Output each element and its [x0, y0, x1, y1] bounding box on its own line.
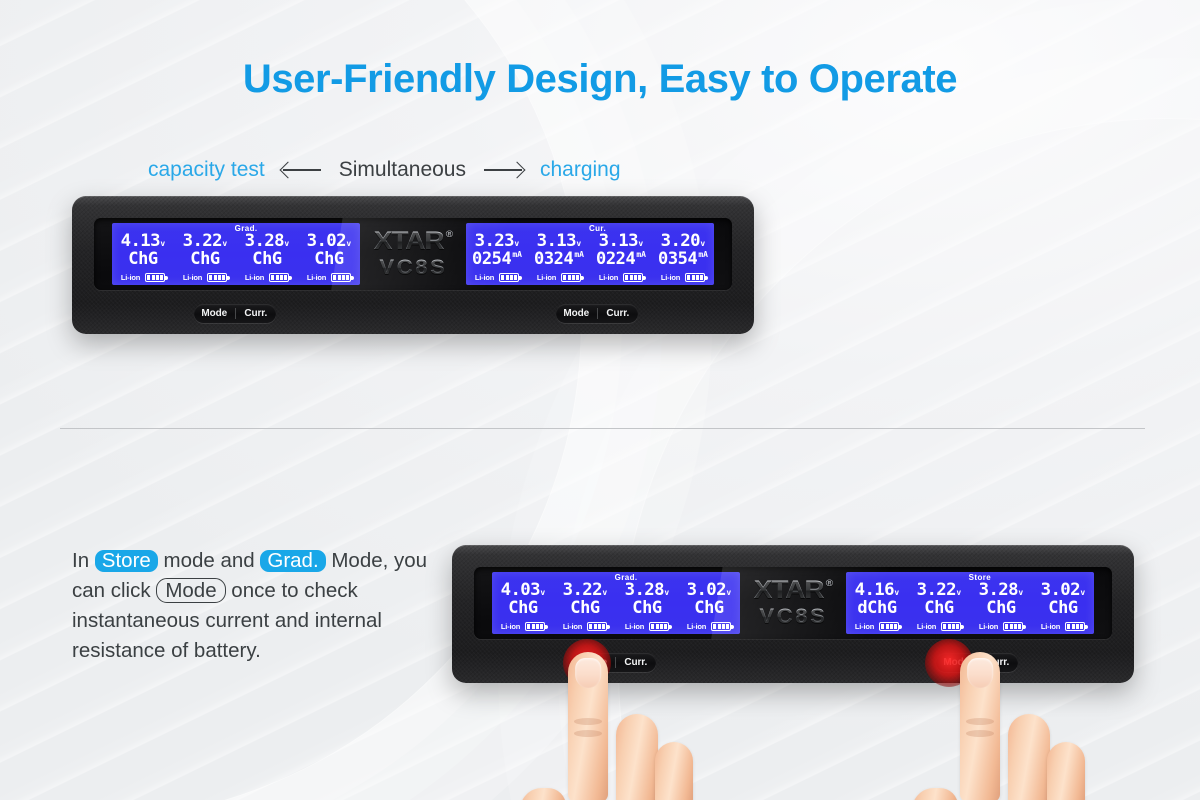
cell-current-unit: mA: [698, 251, 708, 259]
index-finger: [568, 652, 608, 800]
cell-voltage: 3.28: [244, 233, 283, 250]
cell-voltage-unit: v: [576, 240, 581, 248]
cell-voltage-unit: v: [514, 240, 519, 248]
cell-voltage-unit: v: [602, 589, 607, 597]
lcd-cell: 4.03v ChG Li-ion: [492, 572, 554, 634]
grad-mode-highlight: Grad.: [260, 550, 325, 572]
lcd-cell: 3.20v 0354mA Li-ion: [652, 223, 714, 285]
cell-chemistry: Li-ion: [1041, 622, 1060, 631]
cell-chemistry: Li-ion: [917, 622, 936, 631]
lcd-cell: 3.23v 0254mA Li-ion: [466, 223, 528, 285]
battery-level-icon: [685, 273, 705, 282]
cell-voltage-unit: v: [894, 589, 899, 597]
battery-level-icon: [711, 622, 731, 631]
lcd-cell: 3.28v ChG Li-ion: [236, 223, 298, 285]
caption-center-label: Simultaneous: [339, 158, 466, 182]
cell-current: 0324: [534, 250, 573, 269]
store-mode-highlight: Store: [95, 550, 158, 572]
cell-status: ChG: [1048, 599, 1078, 618]
cell-voltage: 3.28: [978, 582, 1017, 599]
lcd-cell: 3.28v ChG Li-ion: [970, 572, 1032, 634]
curr-button-label[interactable]: Curr.: [598, 308, 639, 319]
cell-voltage: 3.02: [686, 582, 725, 599]
battery-level-icon: [207, 273, 227, 282]
cell-chemistry: Li-ion: [979, 622, 998, 631]
cell-voltage-unit: v: [664, 589, 669, 597]
cell-status: ChG: [570, 599, 600, 618]
battery-level-icon: [145, 273, 165, 282]
brand-logo: XTAR ® VC8S: [740, 578, 846, 628]
cell-status: ChG: [190, 250, 220, 269]
brand-logo: XTAR ® VC8S: [360, 229, 466, 279]
cell-chemistry: Li-ion: [475, 273, 494, 282]
registered-mark-icon: ®: [446, 230, 452, 239]
lcd-cell: 3.13v 0224mA Li-ion: [590, 223, 652, 285]
cell-voltage: 3.20: [660, 233, 699, 250]
lcd-cell: 3.13v 0324mA Li-ion: [528, 223, 590, 285]
battery-level-icon: [525, 622, 545, 631]
lcd-screen-top-left: Grad. 4.13v ChG Li-ion 3.22v ChG Li-ion …: [112, 223, 360, 285]
cell-status: ChG: [508, 599, 538, 618]
cell-voltage: 3.02: [306, 233, 345, 250]
cell-chemistry: Li-ion: [625, 622, 644, 631]
brand-name-wrap: XTAR ®: [374, 229, 452, 254]
lcd-cell: 3.22v ChG Li-ion: [174, 223, 236, 285]
knuckle-crease: [574, 730, 603, 737]
fingernail: [967, 658, 993, 688]
battery-level-icon: [1065, 622, 1085, 631]
lcd-screen-bottom-right: Store 4.16v dChG Li-ion 3.22v ChG Li-ion…: [846, 572, 1094, 634]
cell-voltage: 4.13: [120, 233, 159, 250]
cell-chemistry: Li-ion: [661, 273, 680, 282]
cell-status: ChG: [252, 250, 282, 269]
cell-voltage-unit: v: [284, 240, 289, 248]
cell-chemistry: Li-ion: [501, 622, 520, 631]
cell-status: ChG: [986, 599, 1016, 618]
caption-row: capacity test Simultaneous charging: [148, 158, 621, 182]
cell-chemistry: Li-ion: [855, 622, 874, 631]
desc-prefix: In: [72, 549, 95, 572]
cell-current-unit: mA: [574, 251, 584, 259]
battery-level-icon: [649, 622, 669, 631]
cell-chemistry: Li-ion: [245, 273, 264, 282]
cell-chemistry: Li-ion: [307, 273, 326, 282]
index-finger: [960, 652, 1000, 800]
cell-voltage: 3.23: [474, 233, 513, 250]
cell-current: 0254: [472, 250, 511, 269]
cell-status: ChG: [924, 599, 954, 618]
caption-left-label: capacity test: [148, 158, 265, 182]
cell-current-unit: mA: [512, 251, 522, 259]
cell-voltage-unit: v: [346, 240, 351, 248]
brand-name: XTAR: [374, 229, 444, 254]
mode-button-label[interactable]: Mode: [194, 308, 235, 319]
cell-chemistry: Li-ion: [687, 622, 706, 631]
cell-chemistry: Li-ion: [121, 273, 140, 282]
caption-right-label: charging: [540, 158, 621, 182]
cell-voltage-unit: v: [222, 240, 227, 248]
cell-voltage: 3.13: [536, 233, 575, 250]
cell-status: ChG: [314, 250, 344, 269]
long-arrow-left-icon: [279, 162, 325, 178]
cell-status: dChG: [857, 599, 896, 618]
cell-voltage-unit: v: [956, 589, 961, 597]
lcd-cell: 4.16v dChG Li-ion: [846, 572, 908, 634]
knuckle-crease: [574, 718, 603, 725]
cell-status: ChG: [694, 599, 724, 618]
hand-right: [892, 652, 1102, 800]
lcd-cell: 3.22v ChG Li-ion: [908, 572, 970, 634]
middle-finger: [616, 714, 658, 800]
battery-level-icon: [1003, 622, 1023, 631]
cell-voltage: 4.03: [500, 582, 539, 599]
mode-button-inline-reference: Mode: [156, 578, 225, 603]
registered-mark-icon: ®: [826, 579, 832, 588]
curr-button-label[interactable]: Curr.: [236, 308, 277, 319]
battery-level-icon: [879, 622, 899, 631]
section-divider: [60, 428, 1145, 429]
battery-level-icon: [561, 273, 581, 282]
lcd-screen-top-right: Cur. 3.23v 0254mA Li-ion 3.13v 0324mA Li…: [466, 223, 714, 285]
lcd-cell: 3.02v ChG Li-ion: [678, 572, 740, 634]
cell-voltage-unit: v: [540, 589, 545, 597]
fingernail: [575, 658, 601, 688]
charger-device-top: Grad. 4.13v ChG Li-ion 3.22v ChG Li-ion …: [72, 196, 754, 334]
device-front-panel-top: Grad. 4.13v ChG Li-ion 3.22v ChG Li-ion …: [94, 218, 732, 290]
thumb: [520, 788, 566, 800]
battery-level-icon: [269, 273, 289, 282]
long-arrow-right-icon: [480, 162, 526, 178]
lcd-cell: 4.13v ChG Li-ion: [112, 223, 174, 285]
middle-finger: [1008, 714, 1050, 800]
cell-status: ChG: [128, 250, 158, 269]
cell-voltage: 3.22: [182, 233, 221, 250]
lcd-cell: 3.22v ChG Li-ion: [554, 572, 616, 634]
cell-voltage-unit: v: [638, 240, 643, 248]
battery-level-icon: [331, 273, 351, 282]
cell-chemistry: Li-ion: [183, 273, 202, 282]
cell-chemistry: Li-ion: [537, 273, 556, 282]
knuckle-crease: [966, 730, 995, 737]
cell-voltage-unit: v: [1018, 589, 1023, 597]
description-paragraph: In Store mode and Grad. Mode, you can cl…: [72, 546, 444, 666]
cell-voltage: 3.02: [1040, 582, 1079, 599]
lcd-cell: 3.02v ChG Li-ion: [298, 223, 360, 285]
ring-finger: [655, 742, 693, 800]
cell-chemistry: Li-ion: [563, 622, 582, 631]
cell-voltage: 3.28: [624, 582, 663, 599]
cell-voltage: 3.22: [916, 582, 955, 599]
cell-current: 0224: [596, 250, 635, 269]
cell-chemistry: Li-ion: [599, 273, 618, 282]
battery-level-icon: [499, 273, 519, 282]
cell-voltage: 4.16: [854, 582, 893, 599]
lcd-cell: 3.28v ChG Li-ion: [616, 572, 678, 634]
battery-level-icon: [623, 273, 643, 282]
battery-level-icon: [941, 622, 961, 631]
lcd-screen-bottom-left: Grad. 4.03v ChG Li-ion 3.22v ChG Li-ion …: [492, 572, 740, 634]
mode-button-label[interactable]: Mode: [556, 308, 597, 319]
mode-curr-button-right-top[interactable]: Mode Curr.: [556, 304, 638, 323]
page-title: User-Friendly Design, Easy to Operate: [0, 57, 1200, 102]
cell-voltage-unit: v: [726, 589, 731, 597]
cell-current: 0354: [658, 250, 697, 269]
brand-name-wrap: XTAR ®: [754, 578, 832, 603]
brand-name: XTAR: [754, 578, 824, 603]
cell-current-unit: mA: [636, 251, 646, 259]
brand-model: VC8S: [759, 605, 827, 628]
hand-left: [500, 652, 710, 800]
mode-curr-button-left-top[interactable]: Mode Curr.: [194, 304, 276, 323]
cell-voltage: 3.13: [598, 233, 637, 250]
cell-voltage-unit: v: [1080, 589, 1085, 597]
thumb: [912, 788, 958, 800]
lcd-cell: 3.02v ChG Li-ion: [1032, 572, 1094, 634]
desc-middle-1: mode and: [158, 549, 261, 572]
cell-status: ChG: [632, 599, 662, 618]
device-front-panel-bottom: Grad. 4.03v ChG Li-ion 3.22v ChG Li-ion …: [474, 567, 1112, 639]
ring-finger: [1047, 742, 1085, 800]
cell-voltage-unit: v: [700, 240, 705, 248]
knuckle-crease: [966, 718, 995, 725]
cell-voltage-unit: v: [160, 240, 165, 248]
brand-model: VC8S: [379, 256, 447, 279]
cell-voltage: 3.22: [562, 582, 601, 599]
battery-level-icon: [587, 622, 607, 631]
